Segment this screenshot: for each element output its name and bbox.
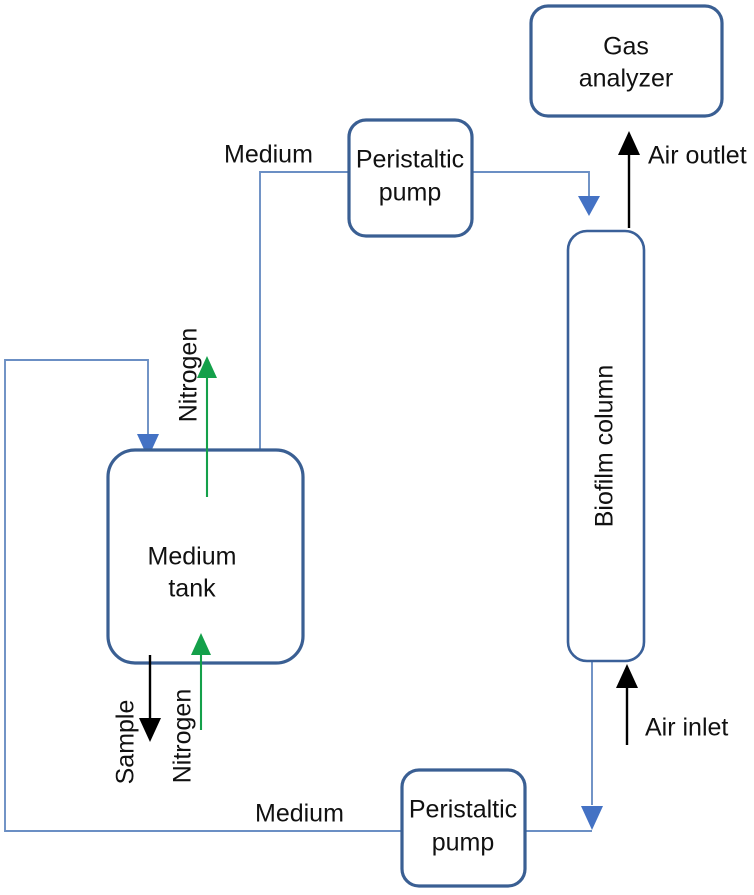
air-outlet-label: Air outlet bbox=[648, 142, 747, 170]
nitrogen-outlet-label: Nitrogen bbox=[175, 328, 203, 423]
biofilm-column-node[interactable]: Biofilm column bbox=[568, 231, 644, 661]
pipe-column-to-bottom-line bbox=[525, 660, 603, 831]
air-outlet-arrow bbox=[618, 131, 640, 228]
gas-analyzer-box[interactable] bbox=[531, 6, 722, 116]
peristaltic-pump-top-label-line2: pump bbox=[379, 179, 442, 207]
medium-top-label: Medium bbox=[224, 141, 313, 169]
medium-bottom-label: Medium bbox=[255, 800, 344, 828]
gas-analyzer-node[interactable]: Gas analyzer bbox=[531, 6, 722, 116]
air-inlet-arrow bbox=[616, 664, 638, 745]
gas-analyzer-label-line1: Gas bbox=[603, 33, 649, 61]
air-inlet-label: Air inlet bbox=[645, 714, 728, 742]
nitrogen-inlet-label: Nitrogen bbox=[169, 689, 197, 784]
process-flow-diagram: Gas analyzer Peristaltic pump Biofilm co… bbox=[0, 0, 754, 895]
biofilm-column-label: Biofilm column bbox=[591, 365, 619, 528]
sample-outlet-arrow bbox=[139, 655, 161, 742]
medium-tank-node[interactable]: Medium tank bbox=[108, 450, 303, 663]
medium-tank-label-line1: Medium bbox=[148, 543, 237, 571]
pipe-top-pump-to-column bbox=[472, 172, 600, 216]
sample-label: Sample bbox=[112, 700, 140, 785]
peristaltic-pump-bottom-node[interactable]: Peristaltic pump bbox=[402, 770, 525, 886]
peristaltic-pump-top-node[interactable]: Peristaltic pump bbox=[349, 120, 472, 236]
peristaltic-pump-bottom-label-line1: Peristaltic bbox=[409, 796, 517, 824]
peristaltic-pump-top-label-line1: Peristaltic bbox=[356, 146, 464, 174]
gas-analyzer-label-line2: analyzer bbox=[579, 65, 674, 93]
diagram-canvas: Gas analyzer Peristaltic pump Biofilm co… bbox=[0, 0, 754, 895]
medium-tank-label-line2: tank bbox=[168, 575, 216, 603]
peristaltic-pump-bottom-label-line2: pump bbox=[432, 829, 495, 857]
